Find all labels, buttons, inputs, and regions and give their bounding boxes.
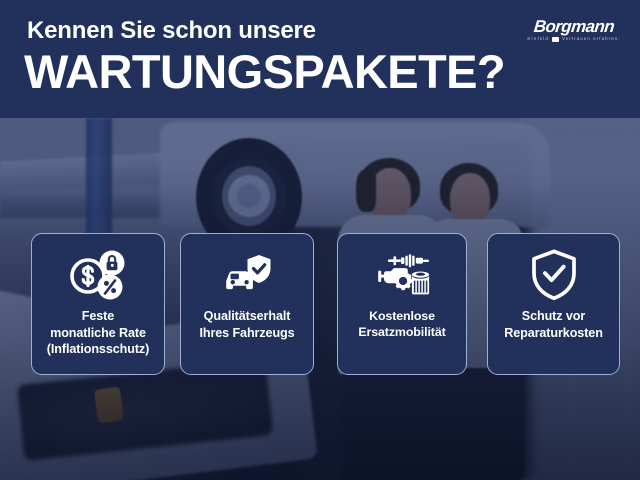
feature-card-fixed-rate[interactable]: Feste monatliche Rate (Inflationsschutz) [31,233,165,375]
feature-card-label: Kostenlose Ersatzmobilität [354,308,449,341]
header-band: Kennen Sie schon unsere WARTUNGSPAKETE? … [0,0,640,118]
feature-card-replacement-mobility[interactable]: Kostenlose Ersatzmobilität [337,233,467,375]
feature-card-label: Qualitätserhalt Ihres Fahrzeugs [195,308,298,341]
engine-parts-gear-filter-icon [370,248,434,302]
logo-mark-icon [552,37,559,42]
feature-card-label: Schutz vor Reparaturkosten [500,308,607,341]
borgmann-logo[interactable]: Borgmann Krefeld Vertrauen erfahren. [522,18,626,42]
logo-slogan: Vertrauen erfahren. [562,37,621,41]
logo-tagline: Krefeld Vertrauen erfahren. [522,37,626,42]
kicker-text: Kennen Sie schon unsere [27,17,316,45]
feature-card-row: Feste monatliche Rate (Inflationsschutz)… [0,233,640,375]
car-shield-check-icon [215,248,279,302]
page-title: WARTUNGSPAKETE? [24,48,505,95]
logo-wordmark: Borgmann [521,18,627,35]
feature-card-repair-protection[interactable]: Schutz vor Reparaturkosten [487,233,620,375]
logo-location: Krefeld [527,37,549,41]
feature-card-label: Feste monatliche Rate (Inflationsschutz) [43,308,153,358]
promo-banner: Kennen Sie schon unsere WARTUNGSPAKETE? … [0,0,640,480]
shield-check-icon [529,248,579,302]
coin-lock-percent-icon [67,248,129,302]
feature-card-quality[interactable]: Qualitätserhalt Ihres Fahrzeugs [180,233,314,375]
